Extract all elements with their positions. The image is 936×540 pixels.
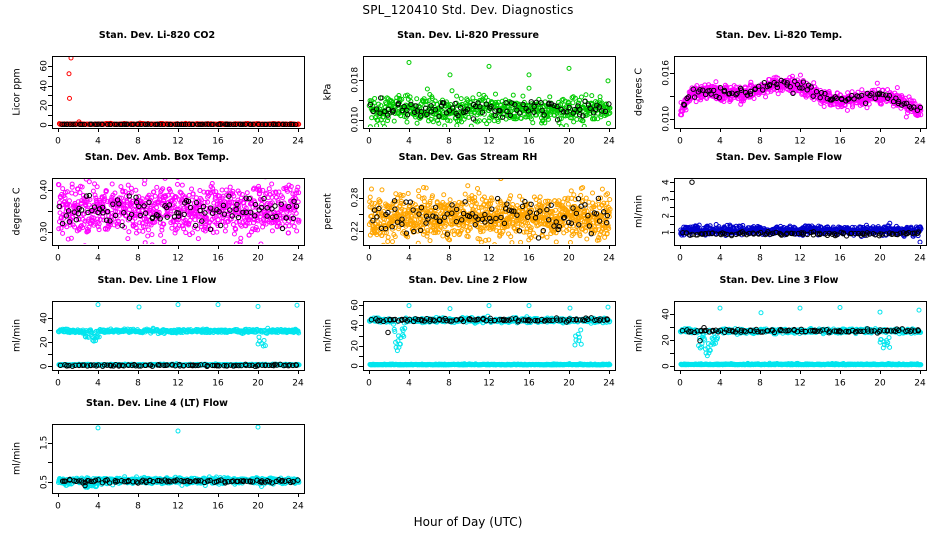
plot-canvas-line1-flow[interactable] xyxy=(4,287,310,402)
plot-panel-amb-box-temp[interactable]: Stan. Dev. Amb. Box Temp. xyxy=(4,152,310,277)
plot-panel-line3-flow[interactable]: Stan. Dev. Line 3 Flow xyxy=(626,275,932,402)
plot-panel-line4-lt-flow[interactable]: Stan. Dev. Line 4 (LT) Flow xyxy=(4,398,310,525)
plot-panel-gas-stream-rh[interactable]: Stan. Dev. Gas Stream RH xyxy=(315,152,621,277)
plot-canvas-line4-lt-flow[interactable] xyxy=(4,410,310,525)
plot-canvas-li820-co2[interactable] xyxy=(4,42,310,160)
panel-title-line3-flow: Stan. Dev. Line 3 Flow xyxy=(626,275,932,286)
panel-title-line2-flow: Stan. Dev. Line 2 Flow xyxy=(315,275,621,286)
plot-canvas-line2-flow[interactable] xyxy=(315,287,621,402)
plot-canvas-li820-pressure[interactable] xyxy=(315,42,621,160)
panel-title-line4-lt-flow: Stan. Dev. Line 4 (LT) Flow xyxy=(4,398,310,409)
figure-title: SPL_120410 Std. Dev. Diagnostics xyxy=(0,3,936,17)
plot-canvas-gas-stream-rh[interactable] xyxy=(315,164,621,277)
plot-panel-sample-flow[interactable]: Stan. Dev. Sample Flow xyxy=(626,152,932,277)
panel-title-li820-temp: Stan. Dev. Li-820 Temp. xyxy=(626,30,932,41)
panel-title-amb-box-temp: Stan. Dev. Amb. Box Temp. xyxy=(4,152,310,163)
plot-panel-line1-flow[interactable]: Stan. Dev. Line 1 Flow xyxy=(4,275,310,402)
plot-panel-li820-co2[interactable]: Stan. Dev. Li-820 CO2 xyxy=(4,30,310,160)
plot-canvas-line3-flow[interactable] xyxy=(626,287,932,402)
plot-canvas-amb-box-temp[interactable] xyxy=(4,164,310,277)
plot-panel-li820-pressure[interactable]: Stan. Dev. Li-820 Pressure xyxy=(315,30,621,160)
plot-panel-line2-flow[interactable]: Stan. Dev. Line 2 Flow xyxy=(315,275,621,402)
panel-title-gas-stream-rh: Stan. Dev. Gas Stream RH xyxy=(315,152,621,163)
panel-title-sample-flow: Stan. Dev. Sample Flow xyxy=(626,152,932,163)
panel-title-line1-flow: Stan. Dev. Line 1 Flow xyxy=(4,275,310,286)
plot-panel-li820-temp[interactable]: Stan. Dev. Li-820 Temp. xyxy=(626,30,932,160)
plot-canvas-sample-flow[interactable] xyxy=(626,164,932,277)
plot-canvas-li820-temp[interactable] xyxy=(626,42,932,160)
panel-title-li820-co2: Stan. Dev. Li-820 CO2 xyxy=(4,30,310,41)
figure-root: SPL_120410 Std. Dev. Diagnostics Stan. D… xyxy=(0,0,936,540)
x-axis-label: Hour of Day (UTC) xyxy=(0,515,936,529)
panel-title-li820-pressure: Stan. Dev. Li-820 Pressure xyxy=(315,30,621,41)
